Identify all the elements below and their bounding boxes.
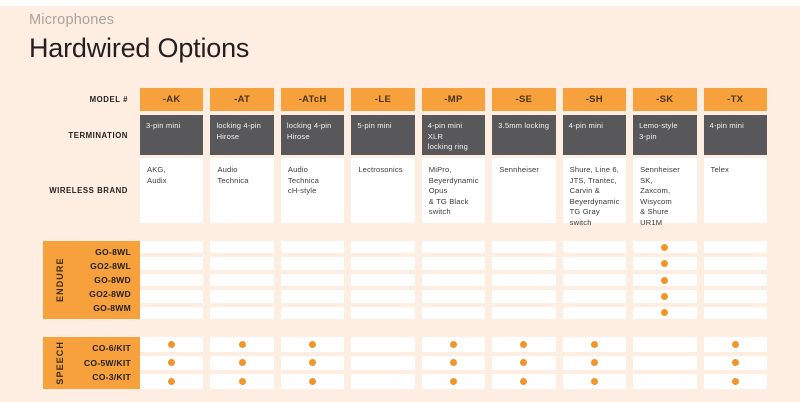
availability-cell-SH [563,337,626,352]
availability-cell-LE [351,290,414,302]
availability-cell-AK [140,307,203,319]
availability-cell-TX [704,356,767,371]
availability-cell-AT [210,356,273,371]
availability-cell-SK [633,290,696,302]
availability-cell-AK [140,356,203,371]
model-number-cell-MP: -MP [422,88,485,111]
availability-empty [168,277,175,284]
availability-dot [309,359,316,366]
availability-cell-SK [633,241,696,253]
termination-cell-SE: 3.5mm locking [492,115,555,155]
model-name-CO6KIT: CO-6/KIT [92,341,131,355]
availability-empty [380,359,387,366]
availability-cell-MP [422,356,485,371]
availability-empty [661,359,668,366]
model-number-cell-ATcH: -ATcH [281,88,344,111]
availability-cell-SE [492,356,555,371]
availability-cell-SK [633,356,696,371]
wireless-brand-cell-TX: Telex [704,158,767,223]
availability-empty [732,244,739,251]
model-number-cell-AK: -AK [140,88,203,111]
availability-dot [168,359,175,366]
availability-empty [450,293,457,300]
availability-empty [309,309,316,316]
availability-empty [450,309,457,316]
availability-empty [732,309,739,316]
availability-dot [309,341,316,348]
availability-cell-AK [140,274,203,286]
availability-dot [520,378,527,385]
availability-dot [520,341,527,348]
availability-cell-SE [492,337,555,352]
availability-cell-MP [422,257,485,269]
availability-cell-SK [633,337,696,352]
availability-empty [380,244,387,251]
section-spacer-2 [0,319,800,337]
availability-empty [309,260,316,267]
availability-cell-AT [210,374,273,389]
wireless-brand-cell-MP: MiPro,BeyerdynamicOpus& TG Blackswitch [422,158,485,223]
availability-cell-MP [422,337,485,352]
availability-cell-SK [633,374,696,389]
availability-cell-TX [704,274,767,286]
group-endure-label: ENDURE GO-8WLGO2-8WLGO-8WDGO2-8WDGO-8WM [43,241,140,319]
availability-cell-ATcH [281,356,344,371]
availability-empty [239,277,246,284]
availability-empty [239,260,246,267]
availability-empty [591,309,598,316]
availability-cell-SE [492,374,555,389]
availability-cell-AT [210,257,273,269]
group-endure-model-list: GO-8WLGO2-8WLGO-8WDGO2-8WDGO-8WM [70,245,140,315]
table-row [140,257,767,269]
wireless-brand-cell-SE: Sennheiser [492,158,555,223]
row-label-wireless-brand: WIRELESS BRAND [0,158,140,223]
row-label-model: MODEL # [0,88,140,111]
availability-empty [168,309,175,316]
availability-empty [309,277,316,284]
wireless-brand-row: WIRELESS BRAND AKG,AudixAudioTechnicaAud… [0,158,800,223]
group-speech-model-list: CO-6/KITCO-5W/KITCO-3/KIT [70,341,140,385]
availability-cell-SH [563,274,626,286]
availability-dot [732,341,739,348]
group-speech-grid [140,337,800,389]
availability-empty [168,260,175,267]
availability-cell-TX [704,241,767,253]
availability-cell-LE [351,374,414,389]
availability-cell-SH [563,257,626,269]
availability-empty [309,293,316,300]
wireless-brand-cell-LE: Lectrosonics [351,158,414,223]
table-row [140,241,767,253]
termination-row: TERMINATION 3-pin minilocking 4-pinHiros… [0,115,800,155]
availability-cell-AK [140,241,203,253]
availability-cell-LE [351,356,414,371]
availability-dot [661,277,668,284]
availability-cell-AK [140,337,203,352]
availability-cell-AT [210,274,273,286]
availability-cell-SH [563,307,626,319]
table-row [140,356,767,371]
availability-cell-LE [351,241,414,253]
availability-cell-SK [633,257,696,269]
model-name-GO28WD: GO2-8WD [89,287,131,301]
model-name-CO3KIT: CO-3/KIT [92,370,131,384]
model-name-GO8WM: GO-8WM [93,301,131,315]
availability-cell-AT [210,337,273,352]
section-spacer-1 [0,223,800,241]
availability-cell-MP [422,274,485,286]
availability-empty [239,293,246,300]
availability-dot [239,341,246,348]
availability-cell-SH [563,290,626,302]
availability-empty [591,244,598,251]
availability-cell-AT [210,290,273,302]
group-endure: ENDURE GO-8WLGO2-8WLGO-8WDGO2-8WDGO-8WM [0,241,800,319]
termination-cell-LE: 5-pin mini [351,115,414,155]
availability-cell-MP [422,290,485,302]
availability-empty [591,277,598,284]
wireless-brand-cell-SK: Sennheiser SK,Zaxcom,Wisycom& Shure UR1M [633,158,696,223]
availability-empty [380,293,387,300]
availability-cell-ATcH [281,274,344,286]
availability-cell-SE [492,290,555,302]
title-block: Microphones Hardwired Options [29,10,249,65]
availability-dot [591,359,598,366]
termination-cell-ATcH: locking 4-pinHirose [281,115,344,155]
availability-empty [520,293,527,300]
termination-cell-SK: Lemo-style3-pin [633,115,696,155]
top-edge-strip [0,0,800,6]
availability-empty [309,244,316,251]
availability-cell-ATcH [281,241,344,253]
availability-dot [168,378,175,385]
availability-empty [661,341,668,348]
availability-dot [661,244,668,251]
availability-cell-ATcH [281,257,344,269]
availability-dot [661,309,668,316]
availability-cell-SH [563,356,626,371]
availability-empty [239,244,246,251]
model-name-CO5WKIT: CO-5W/KIT [84,356,131,370]
availability-cell-ATcH [281,307,344,319]
wireless-brand-cells: AKG,AudixAudioTechnicaAudioTechnicacH-st… [140,158,800,223]
group-speech-label: SPEECH CO-6/KITCO-5W/KITCO-3/KIT [43,337,140,389]
availability-cell-AT [210,241,273,253]
availability-cell-LE [351,307,414,319]
availability-cell-SK [633,307,696,319]
availability-dot [168,341,175,348]
availability-empty [732,260,739,267]
availability-empty [380,309,387,316]
group-speech: SPEECH CO-6/KITCO-5W/KITCO-3/KIT [0,337,800,389]
model-number-cell-LE: -LE [351,88,414,111]
model-number-cell-SK: -SK [633,88,696,111]
availability-empty [450,260,457,267]
availability-empty [591,293,598,300]
availability-cell-SE [492,274,555,286]
availability-empty [168,293,175,300]
availability-dot [591,341,598,348]
group-endure-label-wrap: ENDURE GO-8WLGO2-8WLGO-8WDGO2-8WDGO-8WM [0,241,140,319]
availability-empty [520,244,527,251]
model-number-cell-TX: -TX [704,88,767,111]
availability-empty [168,244,175,251]
page-eyebrow: Microphones [29,10,249,30]
availability-cell-TX [704,337,767,352]
availability-cell-SE [492,257,555,269]
availability-empty [732,277,739,284]
availability-dot [732,378,739,385]
row-label-termination: TERMINATION [0,115,140,155]
group-speech-name: SPEECH [50,341,70,385]
availability-dot [309,378,316,385]
availability-empty [661,378,668,385]
availability-empty [450,277,457,284]
availability-cell-MP [422,241,485,253]
termination-cell-AK: 3-pin mini [140,115,203,155]
group-endure-grid [140,241,800,319]
availability-empty [380,277,387,284]
availability-empty [380,260,387,267]
availability-cell-SE [492,307,555,319]
availability-cell-LE [351,337,414,352]
page-title: Hardwired Options [29,31,249,65]
table-row [140,307,767,319]
availability-empty [380,341,387,348]
availability-cell-MP [422,307,485,319]
availability-cell-AK [140,290,203,302]
wireless-brand-cell-ATcH: AudioTechnicacH-style [281,158,344,223]
availability-cell-TX [704,257,767,269]
model-number-cells: -AK-AT-ATcH-LE-MP-SE-SH-SK-TX [140,88,800,111]
termination-cells: 3-pin minilocking 4-pinHiroselocking 4-p… [140,115,800,155]
availability-dot [661,260,668,267]
availability-dot [591,378,598,385]
availability-empty [450,244,457,251]
availability-cell-SH [563,374,626,389]
availability-cell-AT [210,307,273,319]
availability-empty [520,277,527,284]
availability-cell-AK [140,374,203,389]
availability-dot [661,293,668,300]
availability-empty [732,293,739,300]
availability-empty [239,309,246,316]
availability-cell-ATcH [281,290,344,302]
availability-cell-MP [422,374,485,389]
availability-cell-TX [704,290,767,302]
availability-dot [450,359,457,366]
availability-empty [520,260,527,267]
model-name-GO8WL: GO-8WL [95,245,131,259]
availability-cell-SK [633,274,696,286]
availability-cell-SE [492,241,555,253]
table-row [140,274,767,286]
availability-dot [520,359,527,366]
termination-cell-SH: 4-pin mini [563,115,626,155]
availability-cell-TX [704,307,767,319]
model-name-GO8WD: GO-8WD [94,273,131,287]
availability-empty [520,309,527,316]
availability-cell-AK [140,257,203,269]
availability-empty [591,260,598,267]
availability-dot [239,378,246,385]
availability-dot [450,378,457,385]
availability-cell-ATcH [281,337,344,352]
termination-cell-TX: 4-pin mini [704,115,767,155]
model-number-row: MODEL # -AK-AT-ATcH-LE-MP-SE-SH-SK-TX [0,88,800,111]
termination-cell-MP: 4-pin mini XLRlocking ring [422,115,485,155]
wireless-brand-cell-AT: AudioTechnica [210,158,273,223]
availability-dot [450,341,457,348]
comparison-table: MODEL # -AK-AT-ATcH-LE-MP-SE-SH-SK-TX TE… [0,88,800,389]
availability-cell-ATcH [281,374,344,389]
group-speech-label-wrap: SPEECH CO-6/KITCO-5W/KITCO-3/KIT [0,337,140,389]
table-row [140,337,767,352]
availability-dot [239,359,246,366]
table-row [140,290,767,302]
wireless-brand-cell-SH: Shure, Line 6,JTS, Trantec,Carvin &Beyer… [563,158,626,223]
model-number-cell-AT: -AT [210,88,273,111]
model-number-cell-SE: -SE [492,88,555,111]
table-row [140,374,767,389]
model-number-cell-SH: -SH [563,88,626,111]
availability-dot [732,359,739,366]
availability-cell-TX [704,374,767,389]
termination-cell-AT: locking 4-pinHirose [210,115,273,155]
group-endure-name: ENDURE [50,245,70,315]
model-name-GO28WL: GO2-8WL [90,259,131,273]
availability-cell-SH [563,241,626,253]
wireless-brand-cell-AK: AKG,Audix [140,158,203,223]
availability-empty [380,378,387,385]
availability-cell-LE [351,257,414,269]
availability-cell-LE [351,274,414,286]
